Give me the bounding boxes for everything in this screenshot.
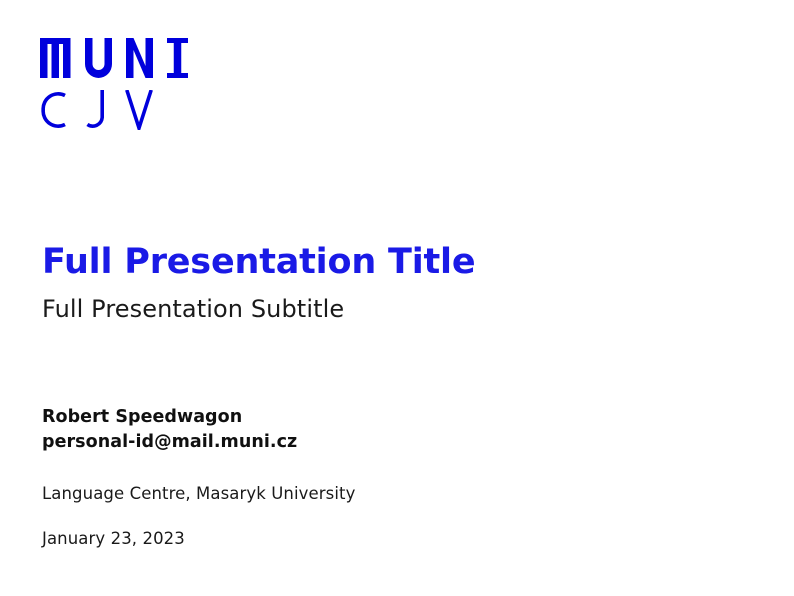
logo-letter-m-icon <box>40 38 71 78</box>
logo-line-cjv <box>40 90 188 130</box>
logo-letter-n-icon <box>126 38 153 78</box>
muni-cjv-logo <box>40 38 188 130</box>
affiliation: Language Centre, Masaryk University <box>42 482 742 505</box>
presentation-date: January 23, 2023 <box>42 527 742 550</box>
logo-letter-v-icon <box>125 90 153 130</box>
logo-letter-c-icon <box>40 90 67 130</box>
presenter-info-group: Robert Speedwagon personal-id@mail.muni.… <box>42 405 742 550</box>
logo-line-muni <box>40 38 188 78</box>
page-title: Full Presentation Title <box>42 244 742 282</box>
logo-letter-j-icon <box>85 90 107 130</box>
author-email: personal-id@mail.muni.cz <box>42 430 742 455</box>
page-subtitle: Full Presentation Subtitle <box>42 296 742 324</box>
logo-letter-u-icon <box>85 38 112 78</box>
title-slide: Full Presentation Title Full Presentatio… <box>0 0 794 596</box>
logo-letter-i-icon <box>167 38 188 78</box>
title-group: Full Presentation Title Full Presentatio… <box>42 244 742 323</box>
author-name: Robert Speedwagon <box>42 405 742 430</box>
